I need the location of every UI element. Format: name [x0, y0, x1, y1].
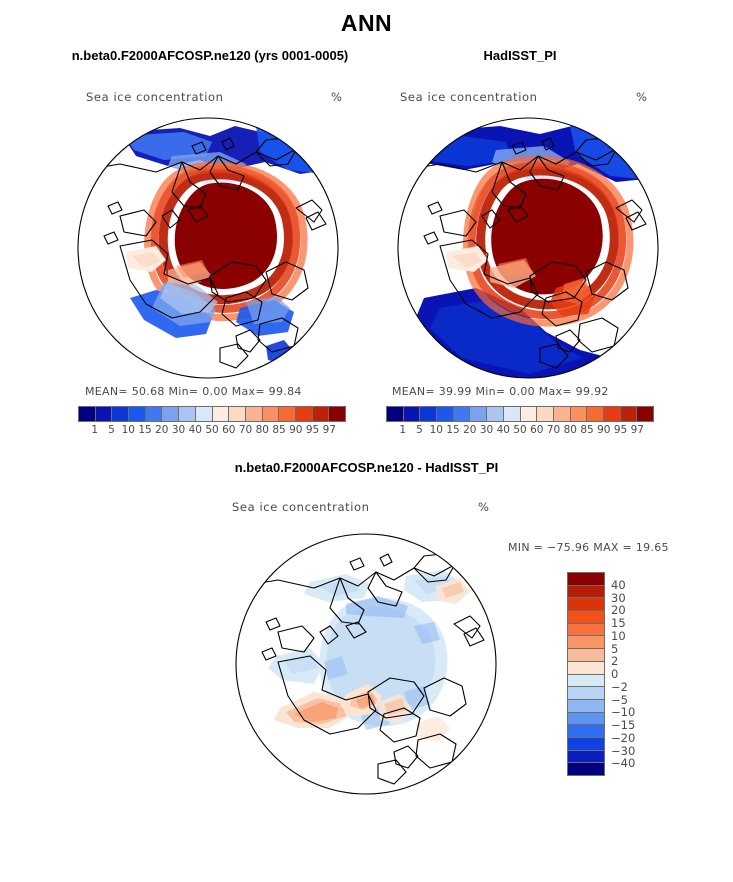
colorbar-model-cells [78, 406, 346, 422]
colorbar-cell [604, 407, 621, 421]
colorbar-cell [568, 586, 604, 599]
colorbar-difference: 4030201510520−2−5−10−15−20−30−40 [567, 572, 663, 776]
colorbar-cell [179, 407, 196, 421]
colorbar-tick: 5 [416, 424, 423, 436]
colorbar-cell [568, 738, 604, 751]
colorbar-tick: 50 [513, 424, 526, 436]
colorbar-tick: 40 [497, 424, 510, 436]
colorbar-cell [568, 598, 604, 611]
variable-label-model: Sea ice concentration [86, 90, 224, 104]
colorbar-cell [487, 407, 504, 421]
colorbar-cell [554, 407, 571, 421]
colorbar-cell [404, 407, 421, 421]
colorbar-cell [420, 407, 437, 421]
colorbar-tick: 1 [399, 424, 406, 436]
stats-difference: MIN = −75.96 MAX = 19.65 [508, 541, 669, 554]
colorbar-cell [568, 751, 604, 764]
colorbar-cell [162, 407, 179, 421]
map-model [60, 112, 356, 382]
colorbar-tick: 5 [108, 424, 115, 436]
panel-title-model: n.beta0.F2000AFCOSP.ne120 (yrs 0001-0005… [0, 48, 420, 63]
colorbar-cell [437, 407, 454, 421]
variable-label-obs: Sea ice concentration [400, 90, 538, 104]
colorbar-cell [568, 624, 604, 637]
colorbar-tick: 10 [430, 424, 443, 436]
colorbar-tick: 50 [205, 424, 218, 436]
colorbar-cell [146, 407, 163, 421]
colorbar-cell [229, 407, 246, 421]
colorbar-cell [387, 407, 404, 421]
colorbar-cell [568, 636, 604, 649]
colorbar-tick: −40 [611, 756, 635, 770]
colorbar-tick: 97 [323, 424, 336, 436]
colorbar-cell [537, 407, 554, 421]
colorbar-tick: 10 [122, 424, 135, 436]
colorbar-model-ticks: 1510152030405060708085909597 [78, 424, 346, 440]
units-label-model: % [331, 90, 343, 104]
colorbar-cell [568, 687, 604, 700]
colorbar-tick: 30 [172, 424, 185, 436]
colorbar-cell [568, 700, 604, 713]
colorbar-cell [568, 725, 604, 738]
colorbar-tick: 70 [547, 424, 560, 436]
colorbar-obs-ticks: 1510152030405060708085909597 [386, 424, 654, 440]
map-obs [380, 112, 676, 382]
colorbar-tick: 70 [239, 424, 252, 436]
panel-title-difference: n.beta0.F2000AFCOSP.ne120 - HadISST_PI [0, 460, 733, 475]
colorbar-cell [329, 407, 345, 421]
colorbar-cell [263, 407, 280, 421]
colorbar-tick: 90 [597, 424, 610, 436]
page-title: ANN [0, 10, 733, 37]
map-difference [218, 522, 514, 802]
colorbar-cell [504, 407, 521, 421]
colorbar-cell [568, 763, 604, 775]
colorbar-tick: 20 [463, 424, 476, 436]
colorbar-cell [568, 611, 604, 624]
colorbar-cell [621, 407, 638, 421]
colorbar-tick: 15 [138, 424, 151, 436]
colorbar-tick: 80 [256, 424, 269, 436]
colorbar-tick: 90 [289, 424, 302, 436]
colorbar-tick: 85 [580, 424, 593, 436]
colorbar-model: 1510152030405060708085909597 [78, 406, 346, 440]
colorbar-cell [568, 649, 604, 662]
colorbar-cell [470, 407, 487, 421]
colorbar-difference-cells [567, 572, 605, 776]
colorbar-cell [568, 662, 604, 675]
colorbar-tick: 20 [155, 424, 168, 436]
colorbar-cell [521, 407, 538, 421]
colorbar-cell [129, 407, 146, 421]
units-label-obs: % [636, 90, 648, 104]
colorbar-cell [571, 407, 588, 421]
colorbar-tick: 40 [189, 424, 202, 436]
variable-label-difference: Sea ice concentration [232, 500, 370, 514]
colorbar-tick: 30 [480, 424, 493, 436]
colorbar-cell [79, 407, 96, 421]
colorbar-difference-ticks: 4030201510520−2−5−10−15−20−30−40 [611, 572, 661, 776]
colorbar-tick: 95 [306, 424, 319, 436]
colorbar-cell [279, 407, 296, 421]
colorbar-cell [112, 407, 129, 421]
colorbar-tick: 80 [564, 424, 577, 436]
colorbar-cell [568, 573, 604, 586]
colorbar-tick: 85 [272, 424, 285, 436]
colorbar-tick: 95 [614, 424, 627, 436]
colorbar-tick: 60 [530, 424, 543, 436]
stats-model: MEAN= 50.68 Min= 0.00 Max= 99.84 [85, 385, 302, 398]
colorbar-cell [637, 407, 653, 421]
colorbar-tick: 60 [222, 424, 235, 436]
panel-title-obs: HadISST_PI [420, 48, 620, 63]
colorbar-tick: 15 [446, 424, 459, 436]
colorbar-tick: 1 [91, 424, 98, 436]
colorbar-cell [454, 407, 471, 421]
colorbar-cell [568, 713, 604, 726]
colorbar-cell [196, 407, 213, 421]
stats-obs: MEAN= 39.99 Min= 0.00 Max= 99.92 [392, 385, 609, 398]
colorbar-tick: 97 [631, 424, 644, 436]
colorbar-cell [213, 407, 230, 421]
colorbar-cell [313, 407, 330, 421]
colorbar-cell [568, 675, 604, 688]
colorbar-cell [96, 407, 113, 421]
colorbar-cell [246, 407, 263, 421]
colorbar-obs-cells [386, 406, 654, 422]
colorbar-cell [587, 407, 604, 421]
units-label-difference: % [478, 500, 490, 514]
colorbar-cell [296, 407, 313, 421]
colorbar-obs: 1510152030405060708085909597 [386, 406, 654, 440]
